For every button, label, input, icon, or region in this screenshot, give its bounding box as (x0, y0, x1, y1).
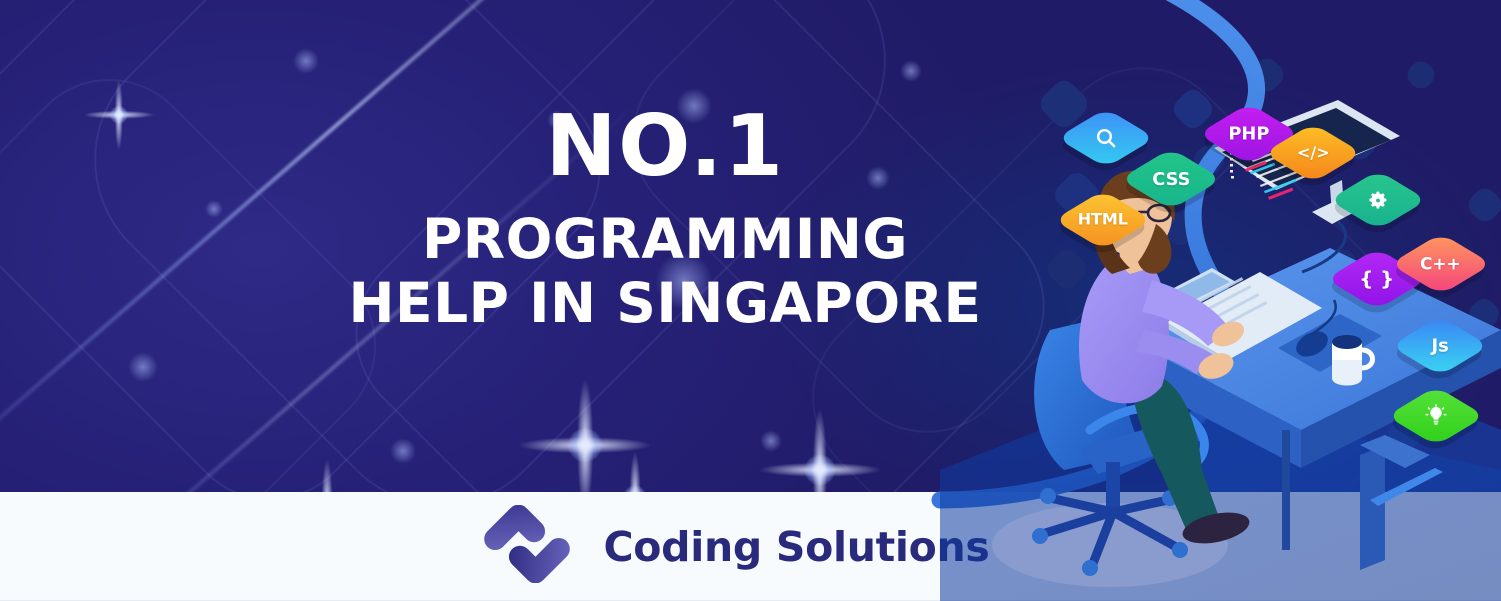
lightbulb-icon[interactable] (1408, 388, 1464, 444)
glow-dot (390, 438, 416, 464)
headline-line3: HELP IN SINGAPORE (250, 275, 1080, 333)
glow-dot (205, 200, 223, 218)
search-icon[interactable] (1078, 110, 1134, 166)
css-label: CSS (1152, 169, 1190, 190)
sparkle-star (84, 80, 154, 150)
glow-dot (293, 48, 319, 74)
logo-mark (481, 505, 573, 583)
desk-leg (1360, 445, 1385, 570)
glow-dot (128, 352, 158, 382)
promo-banner: NO.1 PROGRAMMING HELP IN SINGAPORE (0, 0, 1501, 601)
gear-icon[interactable] (1350, 172, 1406, 228)
cpp-label: C++ (1421, 254, 1462, 274)
mug-coffee (1332, 335, 1362, 349)
sparkle-star (760, 410, 880, 492)
braces-label: { } (1360, 268, 1395, 291)
glow-dot (900, 60, 922, 82)
code-tag-badge[interactable]: </> (1285, 125, 1341, 181)
js-badge[interactable]: Js (1412, 318, 1468, 374)
code-tag-label: </> (1297, 144, 1330, 163)
html-label: HTML (1078, 211, 1128, 230)
chair-column (1106, 462, 1120, 514)
js-label: Js (1431, 336, 1448, 357)
css-badge[interactable]: CSS (1142, 150, 1200, 208)
cpp-badge[interactable]: C++ (1412, 235, 1470, 293)
sparkle-star (282, 460, 372, 492)
html-badge[interactable]: HTML (1075, 192, 1131, 248)
headline-rank: NO.1 (250, 104, 1080, 189)
desk-leg (1282, 430, 1290, 550)
coding-solutions-logo[interactable] (481, 505, 573, 588)
php-label: PHP (1228, 124, 1269, 145)
headline-line2: PROGRAMMING (250, 211, 1080, 269)
headline-block: NO.1 PROGRAMMING HELP IN SINGAPORE (250, 104, 1080, 333)
sparkle-star (590, 452, 680, 492)
